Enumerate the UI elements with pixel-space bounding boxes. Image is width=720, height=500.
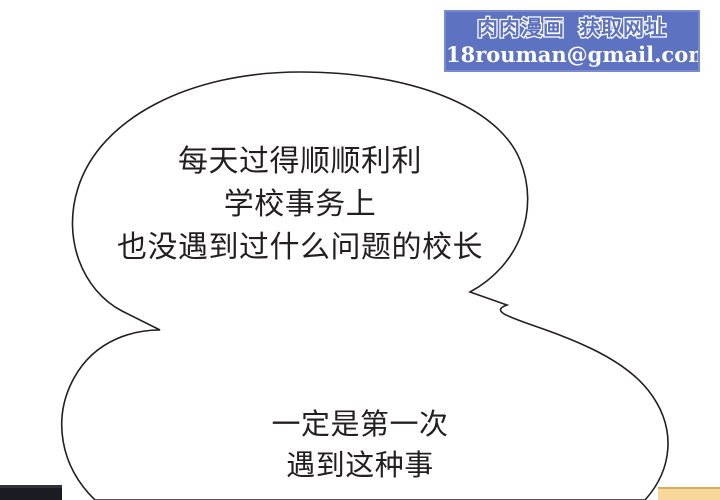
- upper-bubble-text: 每天过得顺顺利利 学校事务上 也没遇到过什么问题的校长: [0, 140, 600, 269]
- watermark-email: 18rouman@gmail.com: [446, 42, 698, 68]
- lower-bubble-line-2: 遇到这种事: [100, 445, 620, 486]
- watermark-banner: 肉肉漫画获取网址 18rouman@gmail.com: [444, 10, 700, 72]
- lower-bubble-line-1: 一定是第一次: [100, 404, 620, 445]
- upper-bubble-line-1: 每天过得顺顺利利: [0, 140, 600, 183]
- upper-bubble-line-2: 学校事务上: [0, 183, 600, 226]
- comic-panel: 每天过得顺顺利利 学校事务上 也没遇到过什么问题的校长 一定是第一次 遇到这种事…: [0, 0, 720, 500]
- upper-bubble-line-3: 也没遇到过什么问题的校长: [0, 226, 600, 269]
- lower-bubble-text: 一定是第一次 遇到这种事: [100, 404, 620, 486]
- bottom-right-prop: [658, 487, 720, 500]
- watermark-title-left: 肉肉漫画: [477, 14, 565, 42]
- watermark-title-right: 获取网址: [579, 14, 667, 42]
- bottom-left-prop: [0, 485, 62, 500]
- watermark-title-row: 肉肉漫画获取网址: [446, 14, 698, 42]
